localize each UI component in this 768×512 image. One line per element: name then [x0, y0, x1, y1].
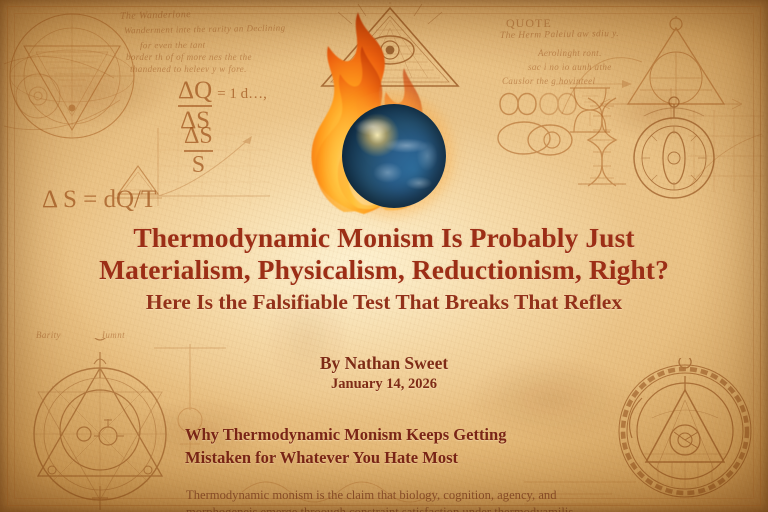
clausius-entropy-formula: Δ S = dQ/T: [42, 186, 156, 214]
marginalia-12: Iumnt: [102, 330, 125, 340]
marginalia-4: border th of of more nes the the: [126, 52, 252, 62]
delta-s-over-s-formula: ΔS S: [184, 124, 213, 178]
earth-globe-icon: [342, 104, 446, 208]
title-block: Thermodynamic Monism Is Probably Just Ma…: [0, 222, 768, 315]
marginalia-9: sac i no io aunh athe: [528, 62, 612, 72]
marginalia-10: Causlor the g hovinteel: [502, 76, 595, 86]
section-heading-line-1: Why Thermodynamic Monism Keeps Getting: [185, 424, 605, 447]
poster-canvas: The Wanderlone Wanderment inte the rarit…: [0, 0, 768, 512]
body-line-1: Thermodynamic monism is the claim that b…: [186, 487, 746, 504]
author-name: By Nathan Sweet: [0, 352, 768, 374]
marginalia-quote-label: QUOTE: [506, 16, 552, 31]
orbit-sketch-corner: [4, 34, 124, 144]
formula-delta-s-num: ΔS: [184, 124, 213, 149]
burning-earth-illustration: [300, 86, 476, 214]
marginalia-3: for even the tant: [140, 40, 206, 51]
marginalia-7: The Herm Paleiul aw sdiu y.: [500, 29, 619, 41]
body-line-2: morphogeneis emerge throough constraint …: [186, 504, 746, 512]
byline-block: By Nathan Sweet January 14, 2026: [0, 352, 768, 394]
section-heading-block: Why Thermodynamic Monism Keeps Getting M…: [185, 424, 605, 469]
marginalia-11: Barity: [36, 330, 61, 340]
formula-s-den: S: [184, 153, 213, 178]
section-heading-line-2: Mistaken for Whatever You Hate Most: [185, 447, 605, 470]
grid-sketch-right: [684, 108, 768, 196]
formula-delta-q: ΔQ: [178, 78, 212, 104]
marginalia-1: The Wanderlone: [120, 9, 191, 22]
title-line-2: Materialism, Physicalism, Reductionism, …: [0, 254, 768, 286]
globe-cloud-layer: [342, 104, 446, 208]
marginalia-8: Aerolinght ront.: [538, 48, 602, 58]
subtitle: Here Is the Falsifiable Test That Breaks…: [0, 290, 768, 315]
marginalia-5: thandened to heleev y w fore.: [130, 64, 247, 74]
publication-date: January 14, 2026: [0, 374, 768, 394]
title-line-1: Thermodynamic Monism Is Probably Just: [0, 222, 768, 254]
body-copy-block: Thermodynamic monism is the claim that b…: [186, 487, 746, 512]
formula-equals-1d: = 1 d…,: [217, 86, 267, 103]
